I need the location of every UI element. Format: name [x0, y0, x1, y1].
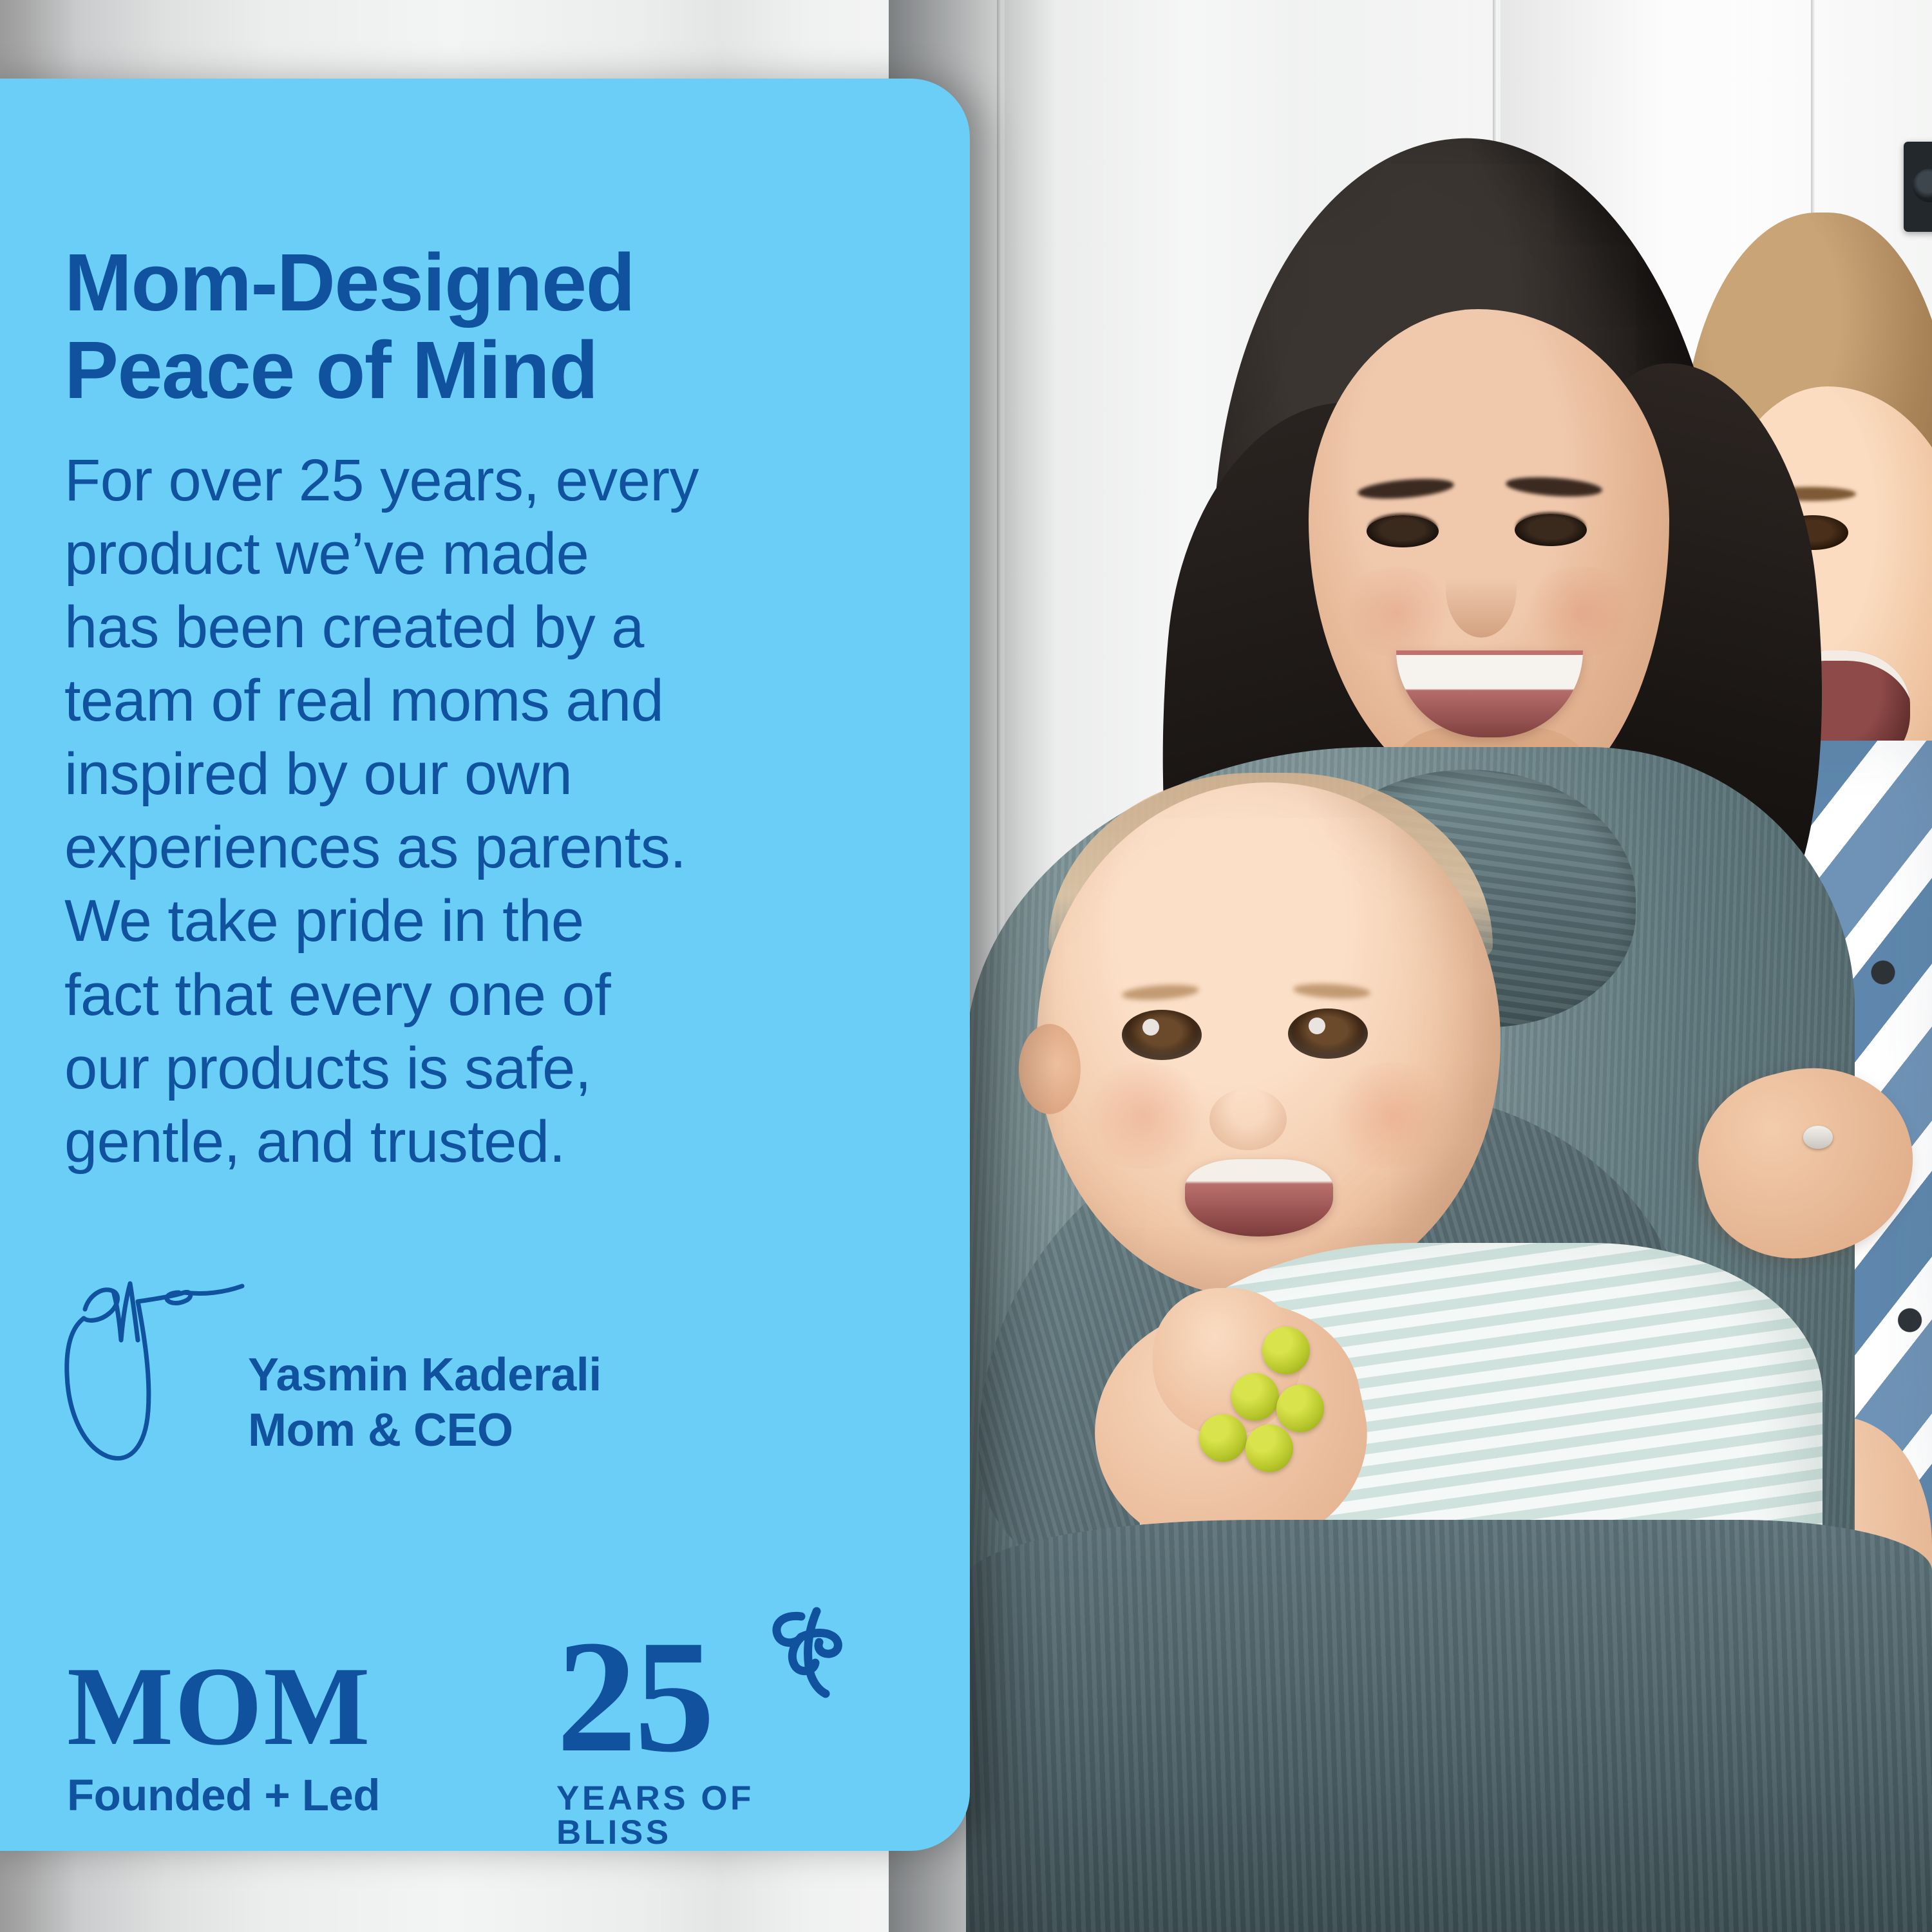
baby-eye-right: [1288, 1009, 1368, 1059]
baby-ear: [1019, 1024, 1081, 1114]
wedding-ring: [1803, 1126, 1833, 1149]
mom-founded-led-logo: MOM Founded + Led: [67, 1650, 380, 1817]
logo-lockup: MOM Founded + Led 25 YEARS OF BLISS: [67, 1643, 923, 1851]
baby-cheek-right: [1323, 1063, 1459, 1169]
baby-nose: [1209, 1088, 1287, 1150]
wall-outlet: [1904, 142, 1932, 232]
butterfly-icon: [761, 1605, 858, 1701]
mother-nose: [1446, 541, 1517, 638]
ad-creative: Mom-Designed Peace of Mind For over 25 y…: [0, 0, 1932, 1932]
mother-cheek-left: [1336, 567, 1459, 657]
mom-tagline: Founded + Led: [67, 1773, 380, 1817]
signature-attribution: Yasmin Kaderali Mom & CEO: [248, 1347, 601, 1459]
signature-block: Yasmin Kaderali Mom & CEO: [58, 1273, 895, 1492]
teething-bead: [1199, 1414, 1247, 1462]
badge-caption: YEARS OF BLISS: [556, 1781, 853, 1850]
baby-mouth: [1185, 1159, 1333, 1236]
testimonial-card: Mom-Designed Peace of Mind For over 25 y…: [0, 79, 970, 1851]
mother-cheek-right: [1520, 567, 1642, 657]
teething-bead: [1262, 1327, 1310, 1374]
teething-bead: [1276, 1385, 1324, 1432]
mother-eye-left: [1367, 515, 1439, 547]
anniversary-badge: 25 YEARS OF BLISS: [556, 1616, 853, 1850]
mom-wordmark: MOM: [67, 1650, 380, 1763]
handwritten-signature-icon: [58, 1273, 245, 1466]
teething-bead: [1245, 1425, 1293, 1472]
mother-eye-right: [1515, 514, 1587, 546]
teething-bead: [1231, 1373, 1279, 1421]
baby-eye-left: [1122, 1010, 1202, 1060]
page-title: Mom-Designed Peace of Mind: [64, 239, 889, 414]
body-paragraph: For over 25 years, every product we’ve m…: [64, 444, 902, 1179]
baby-cheek-left: [1077, 1063, 1212, 1169]
mother-lap: [966, 1520, 1932, 1932]
